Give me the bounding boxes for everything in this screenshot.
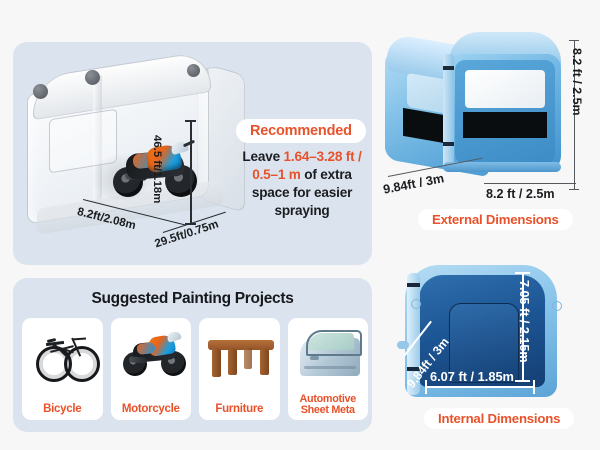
external-height-label: 8.2 ft / 2.5m [570,48,584,116]
bicycle-icon [22,324,103,386]
booth-corner-node [187,64,200,77]
motorcycle-icon [111,324,192,386]
project-card-automotive-sheet-metal[interactable]: Automotive Sheet Meta [288,318,369,420]
booth-corner-node [33,84,48,99]
booth-front-window [465,70,545,108]
external-height-tick-top [569,40,579,41]
rec-line1-prefix: Leave [242,149,283,164]
project-card-motorcycle[interactable]: Motorcycle [111,318,192,420]
internal-dimensions-badge: Internal Dimensions [424,408,574,429]
project-cards-row: Bicycle Motorcycle Furniture [22,318,368,420]
project-card-label-line2: Sheet Meta [301,404,355,416]
height-dimension-line [190,120,192,225]
project-card-label: Automotive Sheet Meta [288,394,369,417]
infographic-canvas: 46.5 ft/1.18m 8.2ft/2.08m 29.5ft/0.75m R… [0,0,600,450]
external-height-tick-bottom [569,189,579,190]
car-door-icon [288,324,369,386]
project-card-label-line1: Automotive [300,393,356,405]
rec-range-imperial: 1.64–3.28 ft / [284,149,362,164]
external-dimensions-badge: External Dimensions [418,209,573,230]
internal-grommet [411,299,421,309]
rec-range-metric: 0.5–1 m [252,167,300,182]
suggested-projects-title: Suggested Painting Projects [13,290,372,308]
internal-height-label: 7.05 ft / 2.15m [517,280,531,363]
height-tick-top [185,120,196,122]
recommended-badge: Recommended [236,119,366,143]
booth-base [443,162,561,172]
internal-height-tick-top [515,272,530,274]
height-dimension-label: 46.5 ft/1.18m [151,135,163,203]
external-booth-illustration [385,30,565,190]
internal-height-tick-bottom [515,380,530,382]
external-width-label: 8.2 ft / 2.5m [486,187,555,201]
project-card-label: Furniture [199,403,280,415]
booth-corner-node [85,70,100,85]
table-icon [199,324,280,386]
internal-width-tick-left [425,380,427,394]
project-card-label: Motorcycle [111,403,192,415]
internal-width-tick-right [533,380,535,394]
booth-front-vent [463,112,547,138]
booth-zipper [443,54,454,170]
internal-grommet [552,301,562,311]
recommended-description: Leave 1.64–3.28 ft / 0.5–1 m of extra sp… [232,148,372,220]
motorcycle-mirror [183,140,195,148]
external-width-line [484,183,576,184]
internal-width-label: 6.07 ft / 1.85m [430,369,514,384]
project-card-furniture[interactable]: Furniture [199,318,280,420]
project-card-label: Bicycle [22,403,103,415]
project-card-bicycle[interactable]: Bicycle [22,318,103,420]
internal-anchor-nub [397,341,409,349]
internal-width-line [425,386,535,388]
